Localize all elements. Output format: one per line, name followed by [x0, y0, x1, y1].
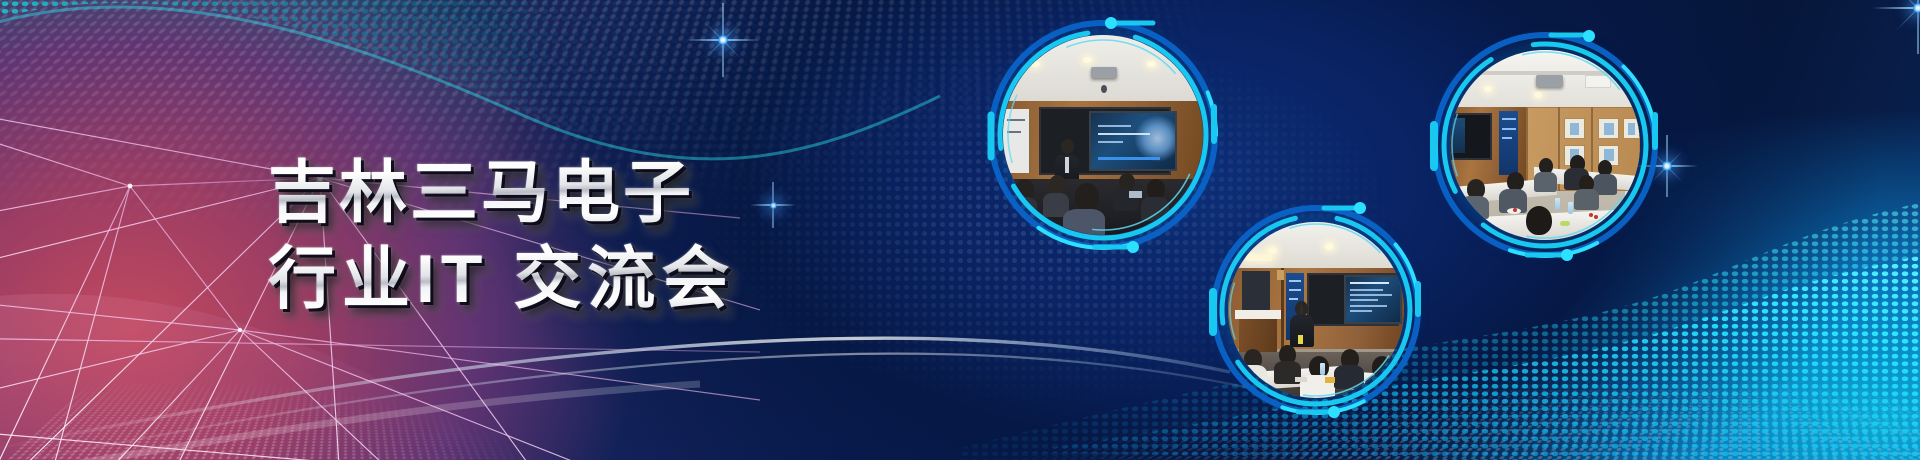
photo-circle-speaker-microphone[interactable]: [1206, 200, 1426, 420]
ring-node-dot-icon: [1127, 241, 1139, 253]
ring-decoration: [1206, 200, 1426, 420]
page-title: 吉林三马电子 行业IT 交流会: [268, 152, 735, 320]
event-banner: 吉林三马电子 行业IT 交流会: [0, 0, 1920, 460]
ring-decoration: [983, 15, 1223, 255]
ring-node-dot-icon: [1583, 30, 1595, 42]
ring-node-dot-icon: [1354, 202, 1366, 214]
ring-decoration: [1427, 27, 1663, 263]
ring-node-dot-icon: [1328, 406, 1340, 418]
ring-node-dot-icon: [1105, 17, 1117, 29]
title-line-2: 行业IT 交流会: [268, 238, 735, 320]
photo-circle-meeting-room[interactable]: [1427, 27, 1663, 263]
title-line-1: 吉林三马电子: [268, 152, 735, 234]
ring-node-dot-icon: [1561, 249, 1573, 261]
photo-circle-conference-hall[interactable]: [983, 15, 1223, 255]
